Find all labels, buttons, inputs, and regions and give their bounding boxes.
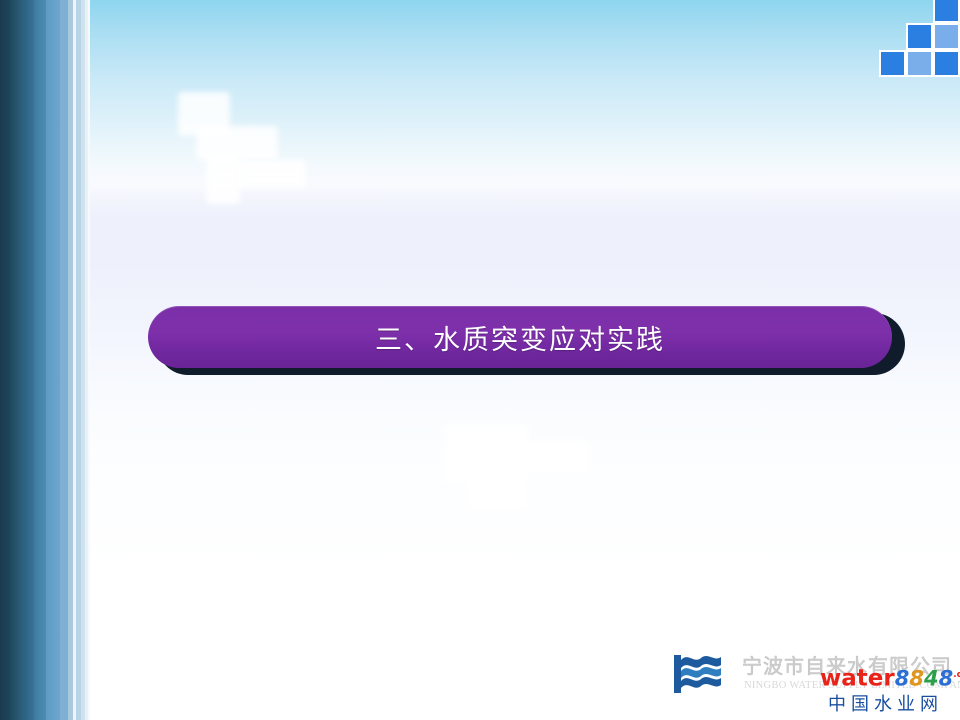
background-blob-icon [470, 440, 590, 474]
stripe-3 [34, 0, 46, 720]
background-blob-icon [206, 154, 240, 204]
stripe-11 [88, 0, 90, 720]
square-row3-col1-icon [879, 50, 906, 77]
square-row3-col2-icon [906, 50, 933, 77]
stripe-2 [14, 0, 34, 720]
square-row2-col2-icon [906, 23, 933, 50]
square-row2-col3-icon [933, 23, 960, 50]
watermark-digit-1: 8 [895, 667, 910, 691]
watermark-word: water [820, 666, 895, 692]
watermark-site-name-cn: 中国水业网 [828, 690, 943, 716]
presentation-slide: 三、水质突变应对实践 宁波市自来水有限公司 NINGBO WATER SUPPL… [0, 0, 960, 720]
watermark-tld: .com [953, 670, 960, 680]
watermark-digit-4: 8 [939, 667, 954, 691]
watermark-digit-2: 8 [909, 667, 924, 691]
left-stripe-decoration [0, 0, 90, 720]
stripe-1 [0, 0, 14, 720]
section-title-banner: 三、水质突变应对实践 [148, 306, 892, 368]
stripe-5 [60, 0, 68, 720]
ningbo-water-wave-logo-icon [668, 652, 730, 696]
watermark-digit-3: 4 [924, 667, 939, 691]
watermark-url-line: water8848.com [820, 664, 960, 691]
page-title: 三、水质突变应对实践 [375, 318, 665, 357]
site-watermark: water8848.com 中国水业网 [820, 664, 960, 720]
square-row1-col3-icon [933, 0, 960, 23]
background-blob-icon [236, 160, 306, 188]
square-row3-col3-icon [933, 50, 960, 77]
stripe-4 [46, 0, 60, 720]
